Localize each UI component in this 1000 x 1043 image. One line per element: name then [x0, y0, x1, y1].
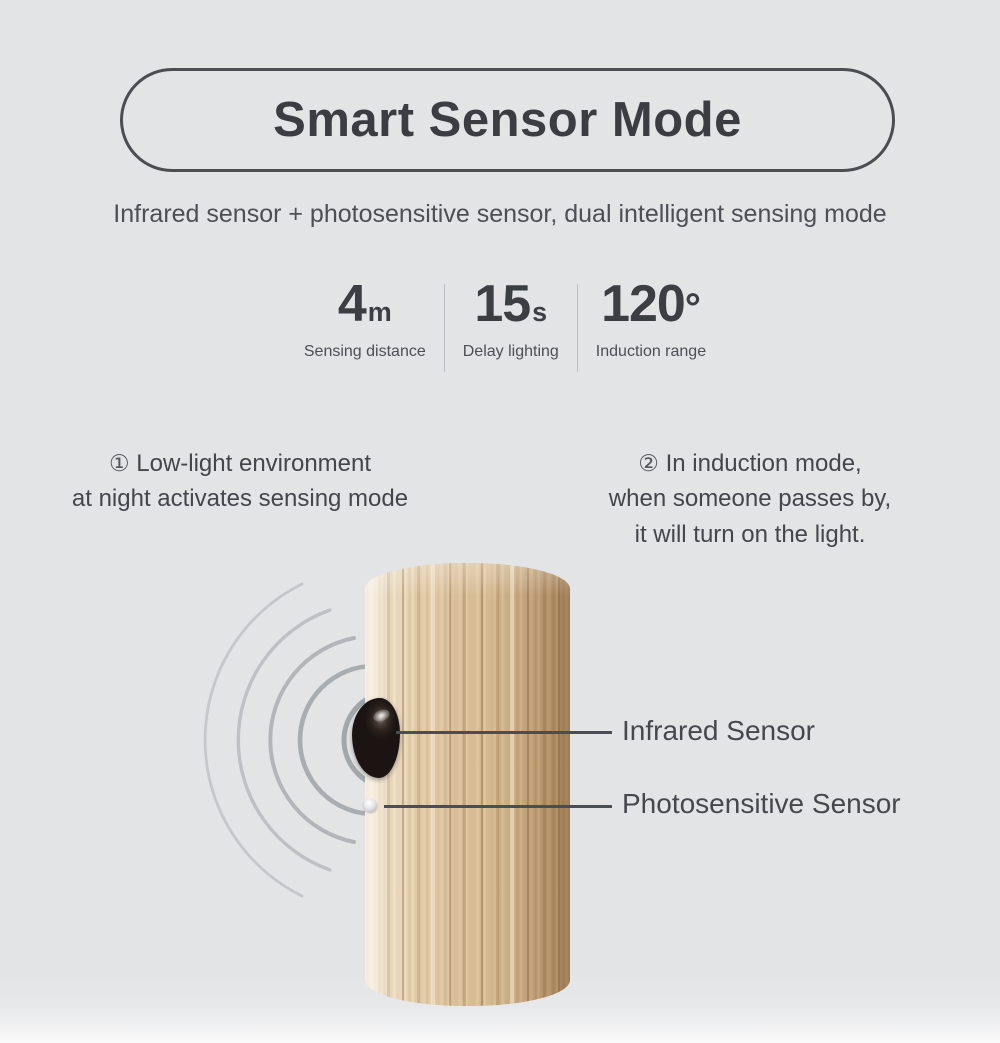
spec-unit: s [532, 299, 547, 326]
bullet-text-line1: Low-light environment [136, 450, 371, 477]
bullet-marker: ② [638, 450, 659, 476]
spec-unit: m [368, 299, 392, 326]
cylinder-top-highlight [365, 563, 570, 597]
bullet-low-light: ① Low-light environment at night activat… [0, 446, 480, 517]
spec-unit: ° [685, 288, 701, 328]
spec-label: Induction range [596, 343, 706, 361]
callout-label-infrared-sensor: Infrared Sensor [622, 715, 815, 747]
spec-number: 4 [338, 278, 366, 330]
bullet-text-line1: In induction mode, [666, 450, 862, 477]
product-illustration: Infrared Sensor Photosensitive Sensor [0, 540, 1000, 1043]
spec-number: 120 [601, 278, 685, 330]
spec-sensing-distance: 4 m Sensing distance [286, 278, 444, 361]
bullet-induction-mode: ② In induction mode, when someone passes… [520, 446, 980, 552]
spec-value: 120 ° [601, 278, 701, 332]
title-box: Smart Sensor Mode [120, 68, 895, 172]
spec-row: 4 m Sensing distance 15 s Delay lighting… [245, 278, 765, 378]
spec-value: 4 m [338, 278, 392, 332]
spec-induction-range: 120 ° Induction range [578, 278, 724, 361]
callout-leader-line [384, 805, 612, 808]
bullet-line: ② In induction mode, [520, 446, 980, 481]
spec-label: Sensing distance [304, 343, 426, 361]
subtitle: Infrared sensor + photosensitive sensor,… [0, 200, 1000, 229]
photosensitive-dot-icon [364, 799, 377, 812]
spec-delay-lighting: 15 s Delay lighting [445, 278, 577, 361]
bullet-marker: ① [109, 450, 130, 476]
spec-label: Delay lighting [463, 343, 559, 361]
bullet-text-line2: when someone passes by, [520, 481, 980, 516]
wooden-cylinder-body [365, 563, 570, 1006]
callout-leader-line [396, 731, 612, 734]
bullet-text-line2: at night activates sensing mode [0, 481, 480, 516]
bullet-line: ① Low-light environment [0, 446, 480, 481]
page-title: Smart Sensor Mode [273, 92, 742, 148]
infographic-page: Smart Sensor Mode Infrared sensor + phot… [0, 0, 1000, 1043]
dome-highlight [372, 707, 392, 724]
spec-value: 15 s [474, 278, 547, 332]
callout-label-photosensitive-sensor: Photosensitive Sensor [622, 788, 901, 820]
spec-number: 15 [474, 278, 530, 330]
